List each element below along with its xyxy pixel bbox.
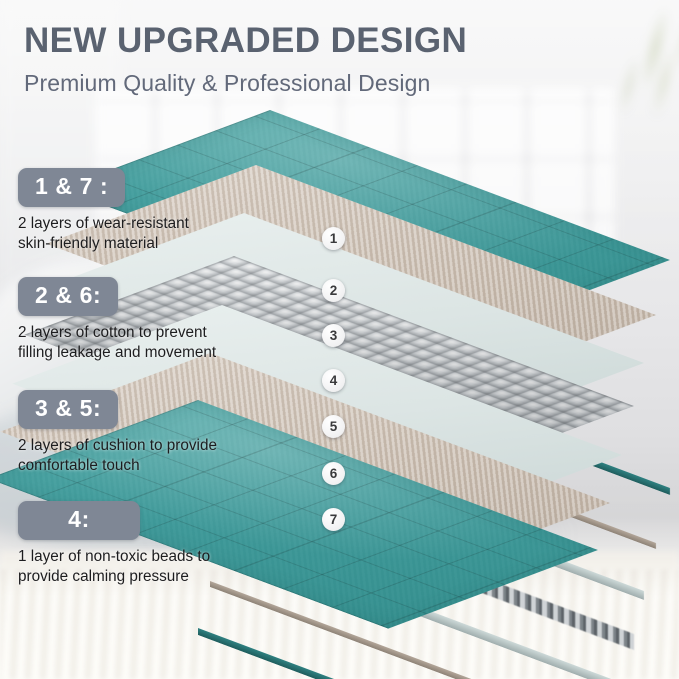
legend-badge-4: 4: bbox=[18, 501, 140, 540]
callout-7-label: 7 bbox=[330, 512, 338, 527]
layer-stack-diagram bbox=[252, 110, 679, 650]
callout-2: 2 bbox=[322, 279, 345, 302]
legend-badge-1-7: 1 & 7 : bbox=[18, 168, 125, 207]
callout-3-label: 3 bbox=[330, 328, 338, 343]
legend-desc-3-5: 2 layers of cushion to provide comfortab… bbox=[18, 436, 270, 477]
callout-4: 4 bbox=[322, 369, 345, 392]
legend-item-2-6: 2 & 6: 2 layers of cotton to prevent fil… bbox=[18, 277, 270, 364]
legend-item-3-5: 3 & 5: 2 layers of cushion to provide co… bbox=[18, 390, 270, 477]
legend-desc-2-6: 2 layers of cotton to prevent filling le… bbox=[18, 323, 270, 364]
callout-2-label: 2 bbox=[330, 283, 338, 298]
callout-6: 6 bbox=[322, 462, 345, 485]
legend-desc-1-7: 2 layers of wear-resistant skin-friendly… bbox=[18, 214, 270, 255]
callout-5-label: 5 bbox=[330, 419, 338, 434]
callout-6-label: 6 bbox=[330, 466, 338, 481]
callout-5: 5 bbox=[322, 415, 345, 438]
callout-1: 1 bbox=[322, 227, 345, 250]
callout-7: 7 bbox=[322, 508, 345, 531]
legend-badge-3-5: 3 & 5: bbox=[18, 390, 118, 429]
legend-item-1-7: 1 & 7 : 2 layers of wear-resistant skin-… bbox=[18, 168, 270, 255]
legend-item-4: 4: 1 layer of non-toxic beads to provide… bbox=[18, 501, 270, 588]
callout-4-label: 4 bbox=[330, 373, 338, 388]
legend-desc-4: 1 layer of non-toxic beads to provide ca… bbox=[18, 547, 270, 588]
legend-badge-2-6: 2 & 6: bbox=[18, 277, 118, 316]
callout-3: 3 bbox=[322, 324, 345, 347]
page-title: NEW UPGRADED DESIGN bbox=[24, 22, 644, 59]
infographic-canvas: NEW UPGRADED DESIGN Premium Quality & Pr… bbox=[0, 0, 679, 679]
heading-block: NEW UPGRADED DESIGN Premium Quality & Pr… bbox=[24, 22, 644, 97]
page-subtitle: Premium Quality & Professional Design bbox=[24, 70, 644, 97]
legend-list: 1 & 7 : 2 layers of wear-resistant skin-… bbox=[18, 168, 270, 598]
callout-1-label: 1 bbox=[330, 231, 338, 246]
